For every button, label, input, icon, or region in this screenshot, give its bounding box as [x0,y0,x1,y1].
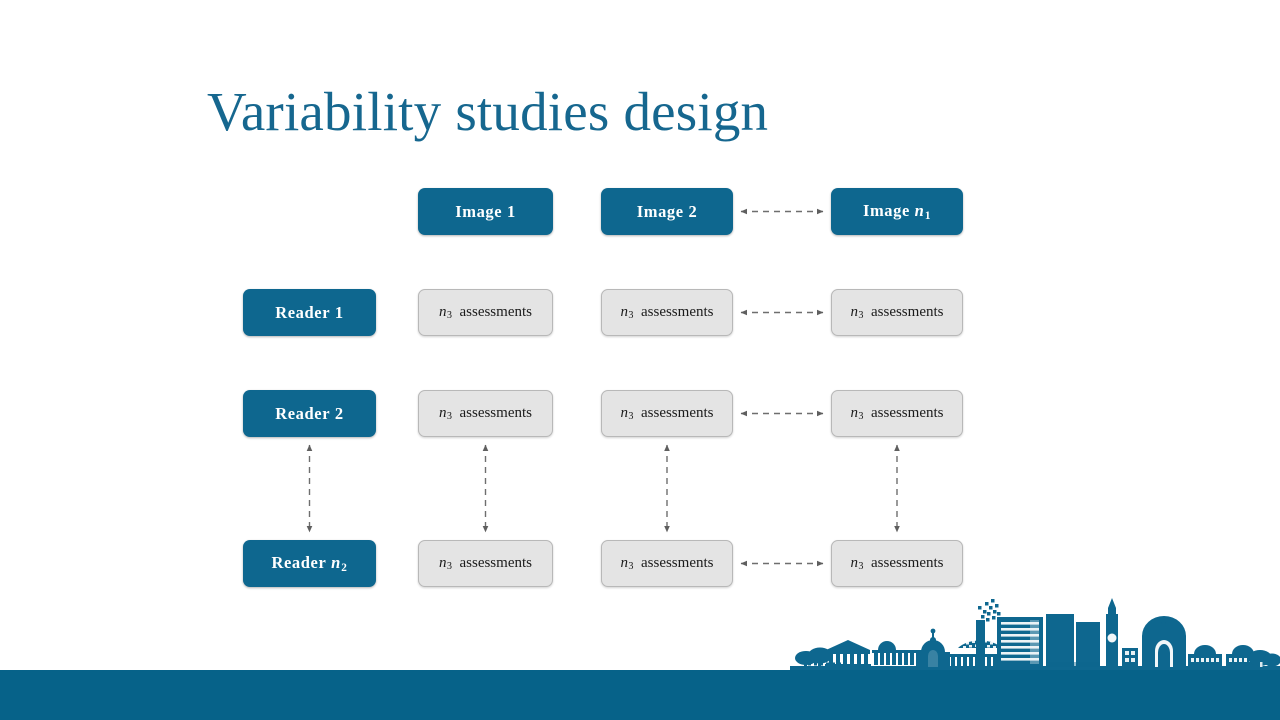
assessment-cell-r2-c3[interactable]: n3 assessments [831,390,963,437]
assessment-cell-label: n3 assessments [851,405,944,423]
assessment-cell-label: n3 assessments [439,304,532,322]
assessment-cell-label: n3 assessments [439,405,532,423]
reader-1-label: Reader 1 [275,303,344,323]
reader-1-node[interactable]: Reader 1 [243,289,376,336]
assessment-cell-r2-c2[interactable]: n3 assessments [601,390,733,437]
image-1-label: Image 1 [455,202,516,222]
footer-band [0,670,1280,720]
image-2-node[interactable]: Image 2 [601,188,733,235]
assessment-cell-rn-c1[interactable]: n3 assessments [418,540,553,587]
assessment-cell-rn-c2[interactable]: n3 assessments [601,540,733,587]
assessment-cell-rn-c3[interactable]: n3 assessments [831,540,963,587]
assessment-cell-label: n3 assessments [621,555,714,573]
assessment-cell-label: n3 assessments [621,304,714,322]
reader-2-node[interactable]: Reader 2 [243,390,376,437]
reader-n2-label: Reader n2 [271,553,347,574]
assessment-cell-label: n3 assessments [851,304,944,322]
assessment-cell-label: n3 assessments [439,555,532,573]
image-n1-node[interactable]: Image n1 [831,188,963,235]
city-skyline-graphic [790,592,1280,672]
reader-2-label: Reader 2 [275,404,344,424]
reader-n2-node[interactable]: Reader n2 [243,540,376,587]
assessment-cell-r1-c2[interactable]: n3 assessments [601,289,733,336]
image-n1-label: Image n1 [863,201,931,222]
image-2-label: Image 2 [637,202,698,222]
image-1-node[interactable]: Image 1 [418,188,553,235]
assessment-cell-label: n3 assessments [851,555,944,573]
assessment-cell-label: n3 assessments [621,405,714,423]
assessment-cell-r1-c1[interactable]: n3 assessments [418,289,553,336]
assessment-cell-r2-c1[interactable]: n3 assessments [418,390,553,437]
assessment-cell-r1-c3[interactable]: n3 assessments [831,289,963,336]
